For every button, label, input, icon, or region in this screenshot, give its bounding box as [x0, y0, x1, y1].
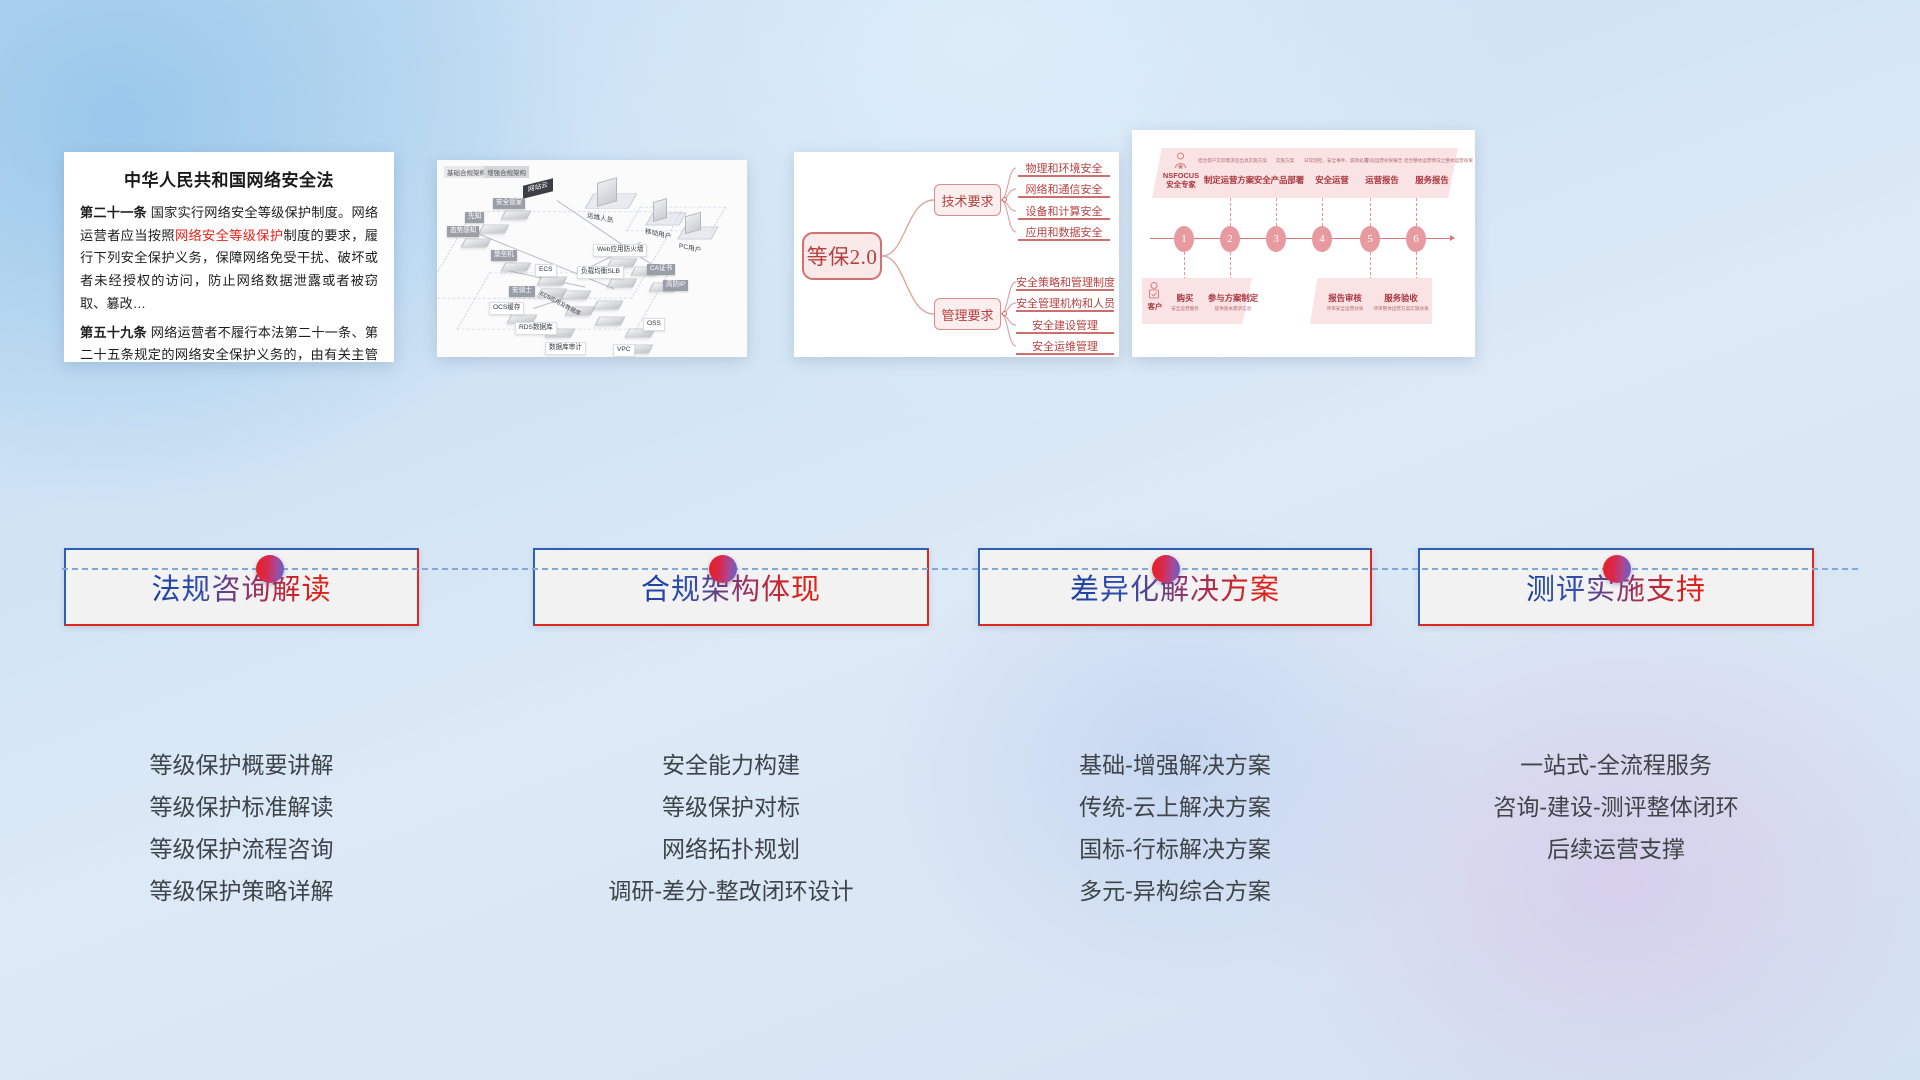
nsfocus-bottom-sub-1: 安全运营服务	[1164, 306, 1206, 312]
nsfocus-dash-down-1	[1184, 252, 1185, 280]
arch-label-db-audit: 数据库审计	[545, 342, 586, 355]
nsfocus-dash-down-6	[1416, 252, 1417, 280]
arch-label-slb: 负载均衡SLB	[577, 266, 624, 279]
list-item: 传统-云上解决方案	[978, 796, 1372, 819]
nsfocus-bottom-title-4[interactable]: 服务验收	[1376, 292, 1426, 304]
law-article-59: 第五十九条 网络运营者不履行本法第二十一条、第二十五条规定的网络安全保护义务的，…	[80, 322, 378, 362]
nsfocus-step-1[interactable]: 1	[1174, 226, 1194, 252]
mindmap-branch-management[interactable]: 管理要求	[934, 298, 1001, 330]
nsfocus-dash-down-2	[1230, 252, 1231, 280]
arch-label-oss: OSS	[643, 318, 665, 331]
arch-tab-basic: 基础合规架构	[444, 166, 489, 178]
arch-icon-ecs-2	[561, 291, 592, 300]
list-item: 多元-异构综合方案	[978, 880, 1372, 903]
arch-icon-xianzhi	[479, 225, 510, 234]
section-list-1: 等级保护概要讲解 等级保护标准解读 等级保护流程咨询 等级保护策略详解	[64, 754, 419, 922]
mindmap-leaf-underline-6	[1016, 310, 1114, 312]
law-article-21-highlight: 网络安全等级保护	[175, 228, 284, 243]
nsfocus-top-title-5[interactable]: 服务报告	[1404, 174, 1460, 186]
nsfocus-axis-arrow-icon	[1450, 235, 1455, 241]
arch-label-ocs-cache: OCS缓存	[489, 302, 524, 315]
nsfocus-step-6[interactable]: 6	[1406, 226, 1426, 252]
mindmap-leaf-underline-8	[1016, 353, 1114, 355]
nsfocus-top-sub-2: 实施方案	[1260, 158, 1310, 164]
arch-device-mobile	[653, 198, 667, 222]
timeline-dot-1[interactable]	[256, 555, 284, 583]
nsfocus-step-2[interactable]: 2	[1220, 226, 1240, 252]
nsfocus-bottom-sub-2: 提供基本需求信息	[1206, 306, 1260, 312]
mindmap-collapse-dot-management[interactable]	[1002, 311, 1007, 316]
arch-icon-situational-awareness	[461, 239, 492, 248]
card-law-text: 中华人民共和国网络安全法 第二十一条 国家实行网络安全等级保护制度。网络运营者应…	[64, 152, 394, 362]
arch-tab-enhanced: 增强合规架构	[484, 166, 529, 178]
section-list-2: 安全能力构建 等级保护对标 网络拓扑规划 调研-差分-整改闭环设计	[533, 754, 929, 922]
arch-icon-bastion-host	[501, 263, 532, 272]
mindmap-leaf-network-comm[interactable]: 网络和通信安全	[1018, 181, 1110, 197]
nsfocus-top-title-3[interactable]: 安全运营	[1304, 174, 1360, 186]
card-mindmap: 等保2.0 技术要求 管理要求 物理和环境安全 网络和通信安全 设备和计算安全 …	[794, 152, 1119, 357]
law-article-59-label: 第五十九条	[80, 325, 147, 340]
mindmap-root-node[interactable]: 等保2.0	[802, 232, 882, 280]
arch-label-website-cloud: 网站云	[523, 178, 553, 198]
nsfocus-top-title-2[interactable]: 安全产品部署	[1248, 174, 1310, 186]
list-item: 后续运营支撑	[1418, 838, 1814, 861]
mindmap-leaf-underline-5	[1016, 289, 1114, 291]
list-item: 等级保护概要讲解	[64, 754, 419, 777]
nsfocus-step-5[interactable]: 5	[1360, 226, 1380, 252]
arch-label-vpc: VPC	[613, 344, 635, 357]
arch-label-situational-awareness: 态势感知	[447, 226, 479, 237]
mindmap-leaf-build-mgmt[interactable]: 安全建设管理	[1016, 317, 1114, 333]
arch-icon-ecs	[537, 277, 568, 286]
list-item: 调研-差分-整改闭环设计	[533, 880, 929, 903]
nsfocus-top-sub-3: 日常巡检、安全事件、漏洞处置	[1304, 158, 1364, 164]
arch-label-ca-cert: CA证书	[647, 264, 675, 275]
mindmap-leaf-org-personnel[interactable]: 安全管理机构和人员	[1016, 295, 1114, 311]
nsfocus-dash-up-2	[1230, 198, 1231, 226]
nsfocus-customer-logo: 客户	[1144, 302, 1166, 311]
arch-label-ecs: ECS	[535, 264, 557, 277]
mindmap-collapse-dot-technical[interactable]	[1002, 197, 1007, 202]
arch-label-security-butler: 安全管家	[493, 198, 525, 209]
nsfocus-bottom-sub-4: 评审整体运营方案实施效果	[1368, 306, 1434, 312]
mindmap-leaf-policy-system[interactable]: 安全策略和管理制度	[1016, 274, 1114, 290]
list-item: 安全能力构建	[533, 754, 929, 777]
arch-label-anqishi: 安骑士	[509, 286, 535, 297]
nsfocus-dash-up-4	[1322, 198, 1323, 226]
arch-label-xianzhi: 先知	[465, 212, 484, 223]
mindmap-leaf-device-compute[interactable]: 设备和计算安全	[1018, 203, 1110, 219]
nsfocus-axis-line	[1150, 238, 1450, 239]
list-item: 网络拓扑规划	[533, 838, 929, 861]
mindmap-leaf-underline-7	[1016, 332, 1114, 334]
nsfocus-bottom-title-1[interactable]: 购买	[1166, 292, 1204, 304]
arch-icon-security-butler	[501, 211, 532, 220]
section-list-3: 基础-增强解决方案 传统-云上解决方案 国标-行标解决方案 多元-异构综合方案	[978, 754, 1372, 922]
list-item: 咨询-建设-测评整体闭环	[1418, 796, 1814, 819]
mindmap-leaf-underline-4	[1018, 239, 1110, 241]
mindmap-branch-technical[interactable]: 技术要求	[934, 184, 1001, 216]
arch-label-pc: PC用户	[679, 244, 701, 255]
nsfocus-top-sub-5: 结合整体运营情况之整体运营效果	[1404, 158, 1466, 164]
mindmap-leaf-ops-mgmt[interactable]: 安全运维管理	[1016, 338, 1114, 354]
nsfocus-top-sub-4: 阶段运营效果报告	[1358, 158, 1410, 164]
section-list-4: 一站式-全流程服务 咨询-建设-测评整体闭环 后续运营支撑	[1418, 754, 1814, 880]
nsfocus-logo-line2: 安全专家	[1166, 180, 1196, 189]
timeline-dot-2[interactable]	[709, 555, 737, 583]
nsfocus-dash-down-5	[1370, 252, 1371, 280]
arch-icon-ecs-4	[593, 301, 624, 310]
section-header-1-label: 法规咨询解读	[151, 566, 331, 608]
arch-label-bastion-host: 堡垒机	[491, 250, 517, 261]
mindmap-leaf-physical-env[interactable]: 物理和环境安全	[1018, 160, 1110, 176]
card-nsfocus-timeline: NSFOCUS 安全专家 结合客户实际需求后出具实施方案 制定运营方案 实施方案…	[1132, 130, 1475, 357]
arch-label-anti-ddos-ip: 高防IP	[663, 280, 688, 291]
slide-canvas: 中华人民共和国网络安全法 第二十一条 国家实行网络安全等级保护制度。网络运营者应…	[0, 0, 1920, 1080]
nsfocus-bottom-title-2[interactable]: 参与方案制定	[1206, 292, 1260, 304]
list-item: 等级保护标准解读	[64, 796, 419, 819]
mindmap-leaf-underline-3	[1018, 218, 1110, 220]
nsfocus-step-4[interactable]: 4	[1312, 226, 1332, 252]
nsfocus-dash-up-5	[1370, 198, 1371, 226]
law-article-21-label: 第二十一条	[80, 205, 147, 220]
arch-label-waf: Web应用防火墙	[593, 244, 647, 257]
mindmap-leaf-underline-2	[1018, 196, 1110, 198]
timeline-dashed-line	[62, 568, 1858, 570]
section-header-1[interactable]: 法规咨询解读	[64, 548, 419, 626]
list-item: 等级保护流程咨询	[64, 838, 419, 861]
list-item: 等级保护对标	[533, 796, 929, 819]
mindmap-leaf-app-data[interactable]: 应用和数据安全	[1018, 224, 1110, 240]
nsfocus-step-3[interactable]: 3	[1266, 226, 1286, 252]
law-article-21: 第二十一条 国家实行网络安全等级保护制度。网络运营者应当按照网络安全等级保护制度…	[80, 202, 378, 316]
list-item: 基础-增强解决方案	[978, 754, 1372, 777]
nsfocus-top-sub-1: 结合客户实际需求后出具实施方案	[1198, 158, 1260, 164]
arch-label-rds: RDS数据库	[515, 322, 557, 335]
arch-icon-slb	[607, 279, 638, 288]
timeline-dot-4[interactable]	[1603, 555, 1631, 583]
list-item: 一站式-全流程服务	[1418, 754, 1814, 777]
nsfocus-bottom-title-3[interactable]: 报告审核	[1320, 292, 1370, 304]
list-item: 等级保护策略详解	[64, 880, 419, 903]
mindmap-leaf-underline-1	[1018, 175, 1110, 177]
card-architecture-diagram: 基础合规架构 增强合规架构 运维人员 移动用户 PC用户 网站云 安全管家 先知…	[437, 160, 747, 357]
arch-icon-ecs-5	[595, 317, 626, 326]
nsfocus-dash-up-6	[1416, 198, 1417, 226]
nsfocus-top-title-4[interactable]: 运营报告	[1354, 174, 1410, 186]
timeline-dot-3[interactable]	[1152, 555, 1180, 583]
nsfocus-dash-up-3	[1276, 198, 1277, 226]
nsfocus-logo-line1: NSFOCUS	[1163, 171, 1199, 180]
law-card-title: 中华人民共和国网络安全法	[80, 166, 378, 191]
list-item: 国标-行标解决方案	[978, 838, 1372, 861]
nsfocus-bottom-sub-3: 评审安全运营效果	[1316, 306, 1374, 312]
